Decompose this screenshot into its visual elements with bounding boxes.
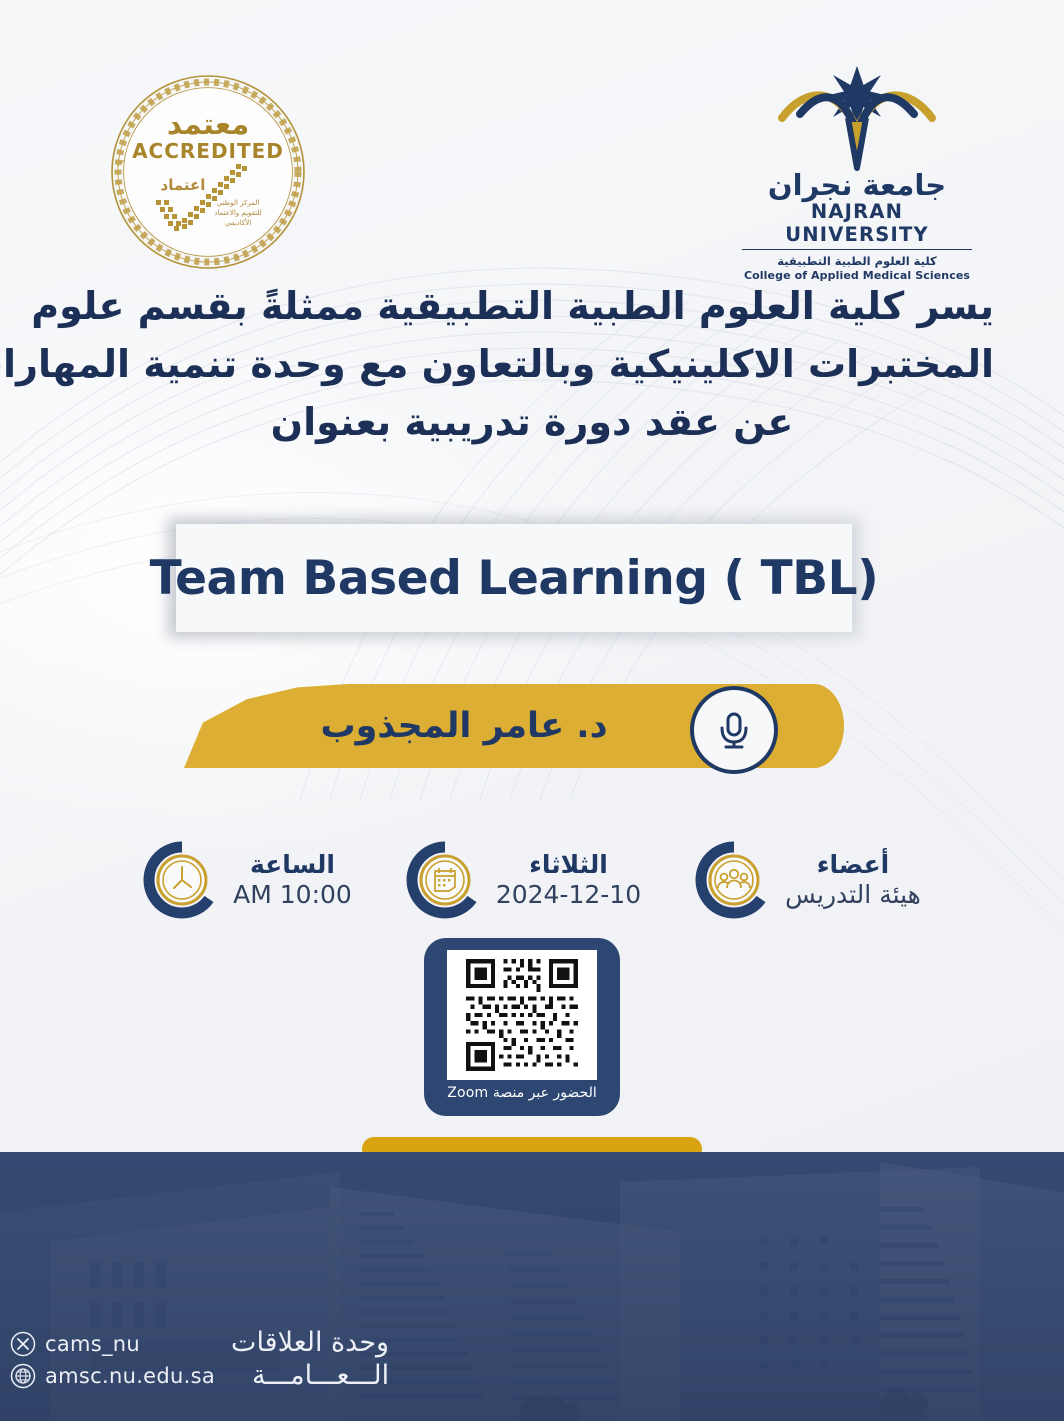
intro-line-2: المختبرات الاكلينيكية وبالتعاون مع وحدة …	[70, 336, 994, 394]
info-label-time: الساعة	[233, 850, 352, 881]
svg-text:للتقويم والاعتماد: للتقويم والاعتماد	[214, 209, 261, 217]
accreditation-seal-icon: معتمد ACCREDITED اعتماد المركز ال	[108, 72, 308, 272]
university-name-en: NAJRAN UNIVERSITY	[742, 201, 972, 250]
contact-x-twitter[interactable]: cams_nu	[10, 1331, 215, 1357]
x-twitter-icon[interactable]	[10, 1331, 36, 1357]
info-label-date: الثلاثاء	[496, 850, 641, 881]
course-title-box: Team Based Learning ( TBL)	[176, 524, 852, 632]
footer-band: وحدة العلاقات الـــعـــامـــة cams_nu	[0, 1152, 1064, 1421]
globe-icon[interactable]	[10, 1363, 36, 1389]
svg-text:المركز الوطني: المركز الوطني	[217, 199, 260, 207]
intro-line-1: يسر كلية العلوم الطبية التطبيقية ممثلةً …	[70, 278, 994, 336]
najran-university-emblem-icon	[742, 62, 972, 172]
qr-card[interactable]: الحضور عبر منصة Zoom	[424, 938, 620, 1116]
footer-content: وحدة العلاقات الـــعـــامـــة cams_nu	[10, 1327, 389, 1393]
qr-caption: الحضور عبر منصة Zoom	[447, 1085, 597, 1101]
info-item-audience: أعضاء هيئة التدريس	[695, 841, 921, 919]
info-text-time: الساعة 10:00 AM	[233, 850, 352, 911]
contact-website[interactable]: amsc.nu.edu.sa	[10, 1363, 215, 1389]
accreditation-seal: معتمد ACCREDITED اعتماد المركز ال	[108, 72, 308, 272]
contact-x-handle: cams_nu	[45, 1332, 140, 1356]
university-logo: جامعة نجران NAJRAN UNIVERSITY كلية العلو…	[742, 62, 972, 267]
qr-code-icon[interactable]	[447, 950, 597, 1080]
page-title: Team Based Learning ( TBL)	[150, 551, 879, 606]
svg-text:معتمد: معتمد	[167, 107, 249, 141]
unit-name-line-2: الـــعـــامـــة	[231, 1360, 389, 1393]
speaker-name: د. عامر المجذوب	[184, 684, 744, 768]
info-text-date: الثلاثاء 2024-12-10	[496, 850, 641, 911]
svg-text:ACCREDITED: ACCREDITED	[132, 139, 284, 163]
university-name-ar: جامعة نجران	[742, 170, 972, 200]
unit-name-line-1: وحدة العلاقات	[231, 1327, 389, 1360]
info-value-time: 10:00 AM	[233, 880, 352, 911]
info-item-time: الساعة 10:00 AM	[143, 841, 352, 919]
audience-icon	[695, 841, 773, 919]
college-name-ar: كلية العلوم الطبية التطبيقية	[742, 254, 972, 268]
speaker-banner: د. عامر المجذوب	[184, 684, 844, 768]
microphone-badge	[690, 686, 778, 774]
contact-website-url: amsc.nu.edu.sa	[45, 1364, 215, 1388]
info-text-audience: أعضاء هيئة التدريس	[785, 850, 921, 911]
intro-line-3: عن عقد دورة تدريبية بعنوان	[70, 394, 994, 452]
svg-text:اعتماد: اعتماد	[161, 176, 206, 194]
event-info-row: أعضاء هيئة التدريس الثلاثاء 2024-12-10	[60, 830, 1004, 930]
info-value-audience: هيئة التدريس	[785, 880, 921, 911]
info-item-date: الثلاثاء 2024-12-10	[406, 841, 641, 919]
poster-canvas: معتمد ACCREDITED اعتماد المركز ال	[0, 0, 1064, 1421]
intro-paragraph: يسر كلية العلوم الطبية التطبيقية ممثلةً …	[70, 278, 994, 451]
svg-text:الأكاديمي: الأكاديمي	[225, 218, 251, 227]
footer-contacts: cams_nu amsc.nu.edu.sa	[10, 1331, 215, 1389]
calendar-icon	[406, 841, 484, 919]
microphone-icon	[713, 709, 755, 751]
clock-icon	[143, 841, 221, 919]
public-relations-unit: وحدة العلاقات الـــعـــامـــة	[231, 1327, 389, 1393]
info-label-audience: أعضاء	[785, 850, 921, 881]
info-value-date: 2024-12-10	[496, 880, 641, 911]
